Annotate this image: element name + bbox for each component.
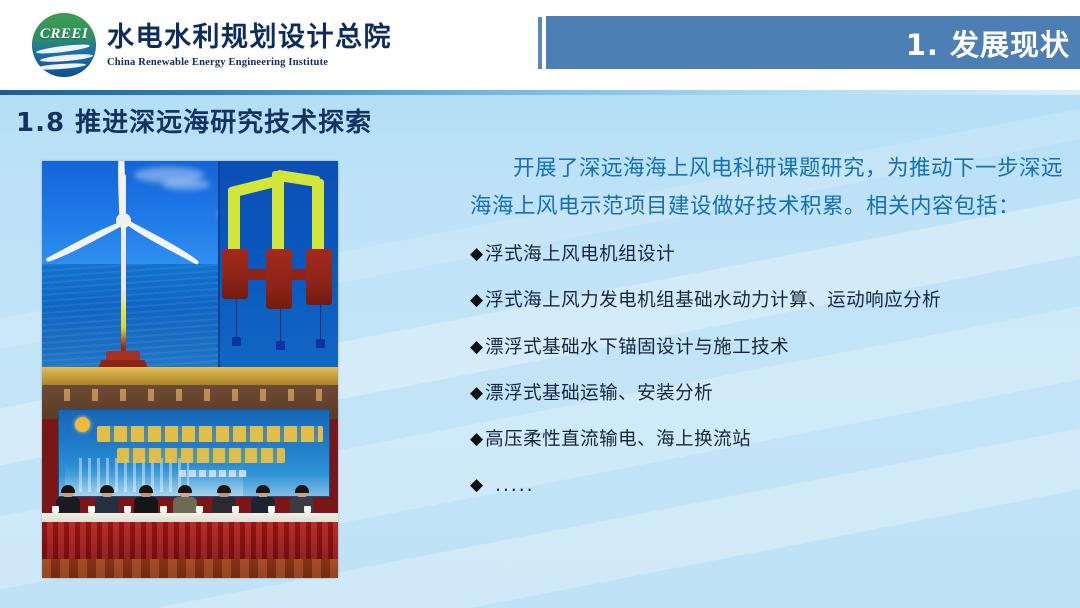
section-title: 1. 发展现状 — [906, 22, 1070, 64]
water-cup — [304, 506, 311, 514]
list-item-label: ..... — [495, 474, 534, 497]
conference-photo — [42, 385, 338, 578]
page-title: 1.8 推进深远海研究技术探索 — [16, 102, 372, 139]
logo-text-block: 水电水利规划设计总院 China Renewable Energy Engine… — [107, 22, 392, 67]
anchor-block-icon — [316, 339, 325, 348]
banner-logo-icon — [75, 417, 90, 432]
section-title-bar: 1. 发展现状 — [546, 16, 1080, 69]
banner-subline — [179, 470, 247, 477]
conference-table-skirt — [42, 522, 338, 560]
list-item-label: 漂浮式基础运输、安装分析 — [485, 382, 713, 405]
list-item: ◆漂浮式基础水下锚固设计与施工技术 — [470, 336, 1070, 359]
platform-leg — [272, 171, 284, 253]
platform-buoyancy-can — [266, 249, 292, 309]
mooring-line — [236, 299, 237, 339]
turbine-hub — [116, 213, 131, 228]
organization-name-en: China Renewable Energy Engineering Insti… — [107, 57, 392, 68]
creei-emblem-icon: CREEI — [32, 13, 96, 77]
list-item: ◆浮式海上风电机组设计 — [470, 243, 1070, 266]
list-item: ◆浮式海上风力发电机组基础水动力计算、运动响应分析 — [470, 289, 1070, 312]
panelist-hair — [256, 485, 270, 493]
list-item: ◆漂浮式基础运输、安装分析 — [470, 382, 1070, 405]
platform-buoyancy-can — [222, 249, 248, 299]
water-cup — [52, 506, 59, 514]
panelist-hair — [295, 485, 309, 493]
mooring-line — [280, 309, 281, 343]
platform-buoyancy-can — [306, 249, 332, 305]
banner-headline-line — [117, 448, 285, 463]
panelist-hair — [217, 485, 231, 493]
list-item: ◆..... — [470, 474, 1070, 497]
organization-logo: CREEI 水电水利规划设计总院 China Renewable Energy … — [32, 13, 392, 77]
water-cup — [196, 506, 203, 514]
platform-leg — [228, 187, 240, 253]
slide-header: CREEI 水电水利规划设计总院 China Renewable Energy … — [0, 0, 1080, 90]
water-cup — [160, 506, 167, 514]
water-cup — [124, 506, 131, 514]
anchor-block-icon — [276, 341, 285, 350]
organization-name-cn: 水电水利规划设计总院 — [107, 22, 392, 53]
list-item-label: 浮式海上风力发电机组基础水动力计算、运动响应分析 — [485, 289, 941, 312]
floating-platform-structure — [220, 165, 332, 365]
mooring-line — [320, 305, 321, 341]
ceiling-lights — [42, 389, 338, 401]
floating-wind-turbine-render — [42, 161, 338, 385]
water-cup — [232, 506, 239, 514]
bullet-list: ◆浮式海上风电机组设计◆浮式海上风力发电机组基础水动力计算、运动响应分析◆漂浮式… — [470, 243, 1070, 497]
wave-line-icon — [40, 53, 93, 64]
list-item-label: 高压柔性直流输电、海上换流站 — [485, 428, 751, 451]
intro-paragraph: 开展了深远海海上风电科研课题研究，为推动下一步深远海海上风电示范项目建设做好技术… — [470, 150, 1070, 225]
floor-carpet — [42, 559, 338, 578]
panelist-hair — [139, 485, 153, 493]
panelist-hair — [61, 485, 75, 493]
diamond-bullet-icon: ◆ — [470, 243, 483, 264]
render-foreground-deck — [42, 367, 338, 385]
header-accent-tick — [538, 17, 542, 69]
banner-headline-line — [97, 426, 323, 442]
panelist-hair — [178, 485, 192, 493]
diamond-bullet-icon: ◆ — [470, 428, 483, 449]
platform-leg — [312, 179, 324, 253]
list-item-label: 漂浮式基础水下锚固设计与施工技术 — [485, 336, 789, 359]
diamond-bullet-icon: ◆ — [470, 382, 483, 403]
diamond-bullet-icon: ◆ — [470, 474, 483, 495]
anchor-block-icon — [232, 337, 241, 346]
cloud-icon — [162, 179, 210, 190]
list-item: ◆高压柔性直流输电、海上换流站 — [470, 428, 1070, 451]
water-cup — [88, 506, 95, 514]
water-cup — [268, 506, 275, 514]
diamond-bullet-icon: ◆ — [470, 289, 483, 310]
wave-line-icon — [35, 62, 86, 71]
list-item-label: 浮式海上风电机组设计 — [485, 243, 675, 266]
slide: CREEI 水电水利规划设计总院 China Renewable Energy … — [0, 0, 1080, 608]
content-column: 开展了深远海海上风电科研课题研究，为推动下一步深远海海上风电示范项目建设做好技术… — [470, 150, 1070, 520]
creei-emblem-text: CREEI — [32, 26, 96, 43]
diamond-bullet-icon: ◆ — [470, 336, 483, 357]
figure-image — [42, 161, 338, 578]
panelist-hair — [100, 485, 114, 493]
